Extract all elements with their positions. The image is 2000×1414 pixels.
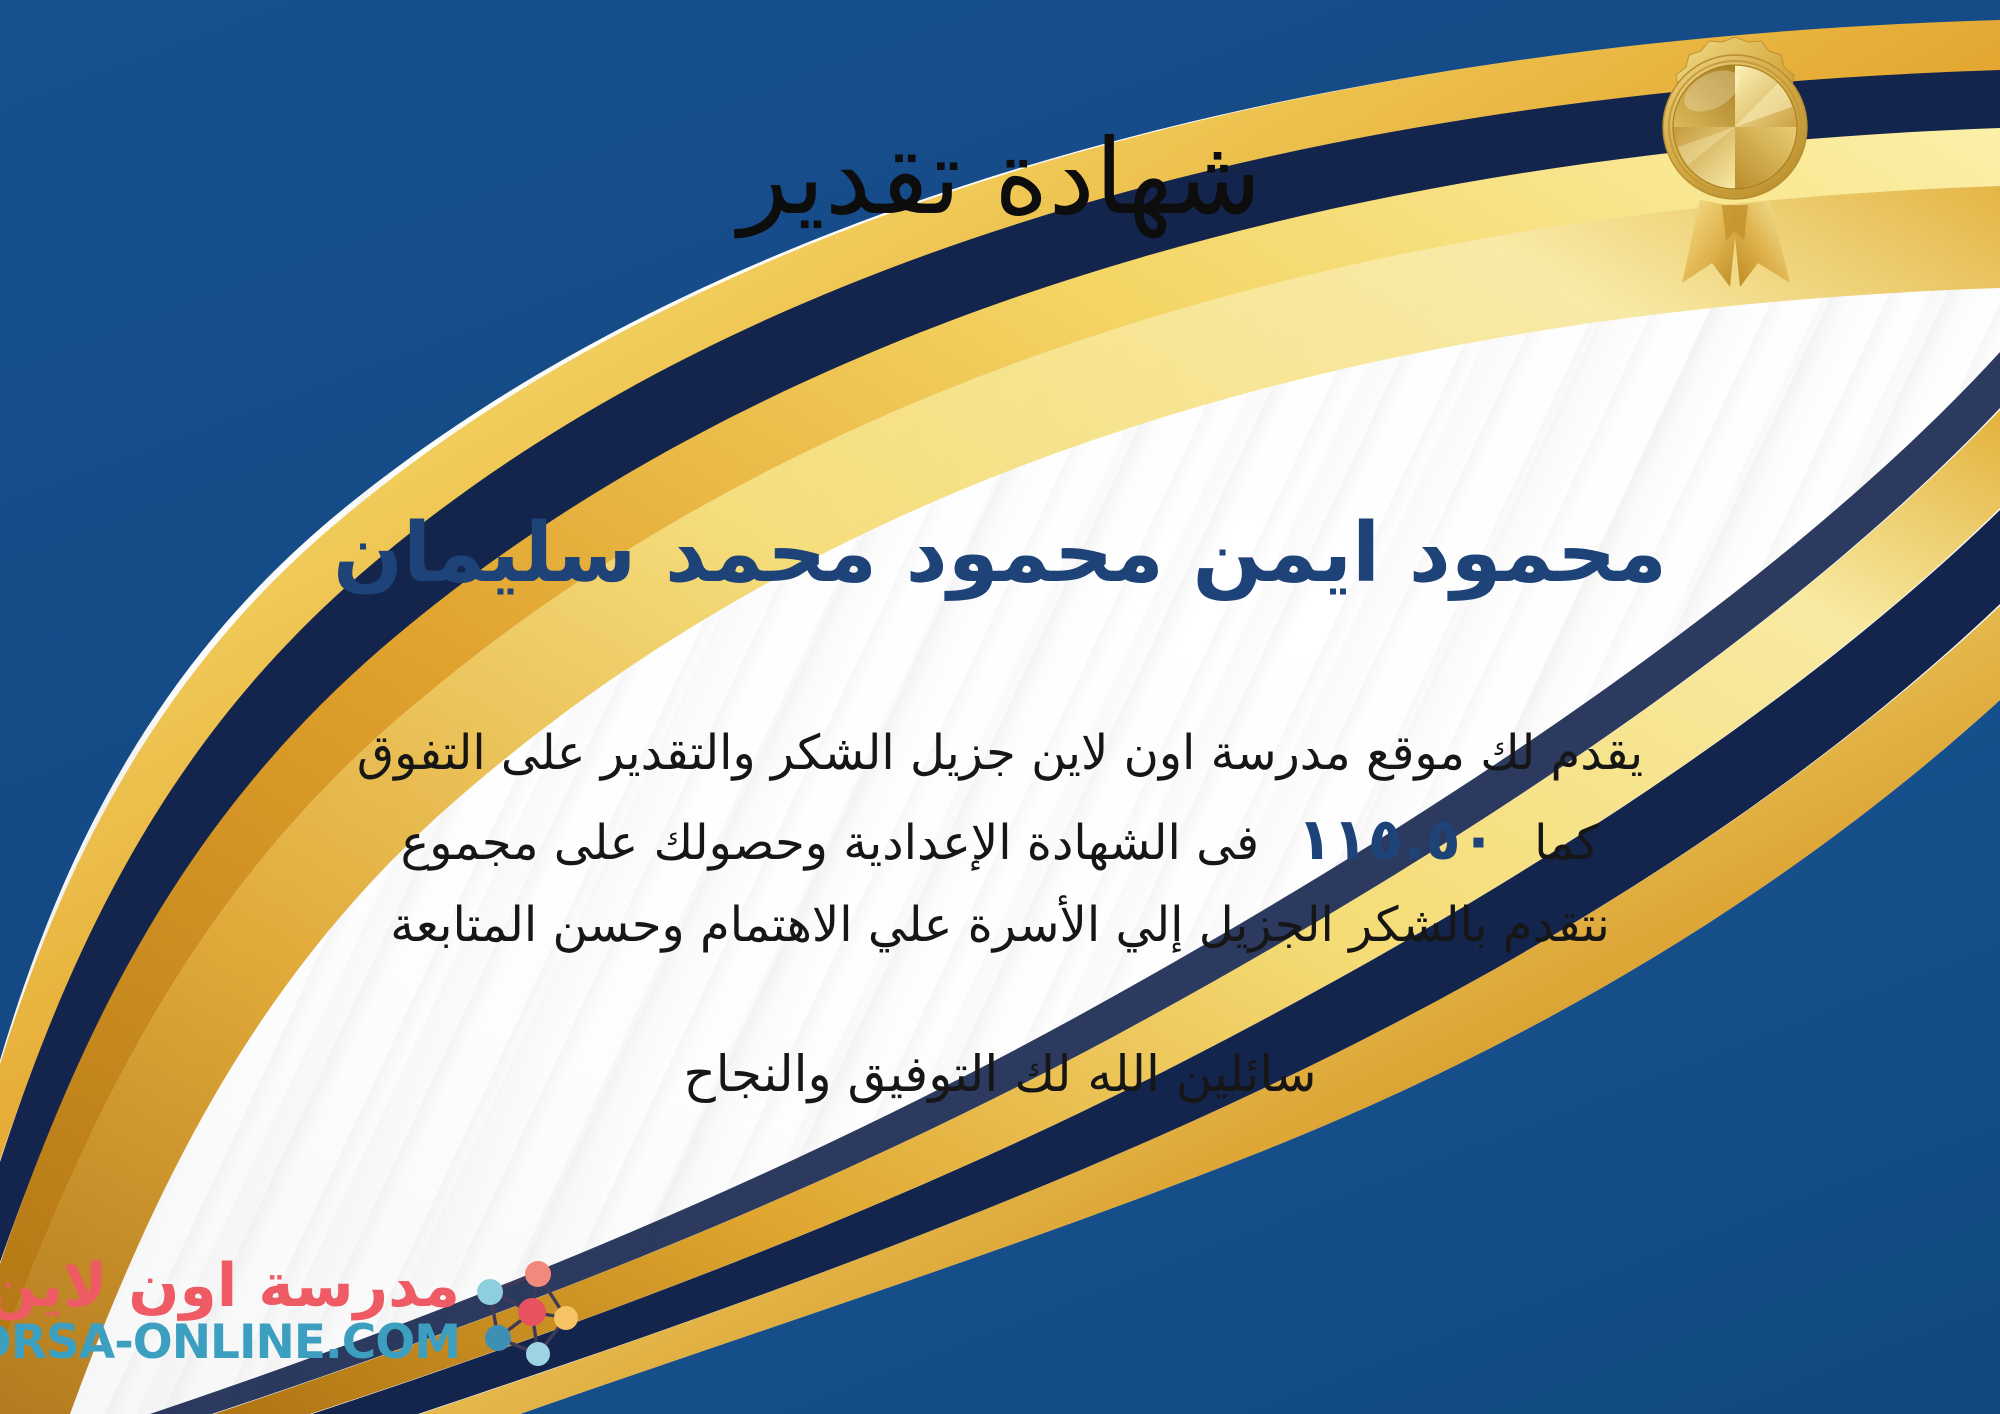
recipient-name: محمود ايمن محمود محمد سليمان [120, 505, 1880, 603]
network-nodes-icon [466, 1246, 584, 1376]
brand-text-block: مدرسة اون لاين MADRSA-ONLINE.COM [0, 1255, 466, 1367]
certificate-page: شهادة تقدير محمود ايمن محمود محمد سليمان… [0, 0, 2000, 1414]
brand-arabic-name: مدرسة اون لاين [0, 1255, 460, 1318]
closing-line: سائلين الله لك التوفيق والنجاح [120, 1045, 1880, 1103]
body-line-2: كما١١٥.٥٠فى الشهادة الإعدادية وحصولك على… [160, 793, 1840, 887]
body-line-1: يقدم لك موقع مدرسة اون لاين جزيل الشكر و… [160, 715, 1840, 793]
certificate-content: شهادة تقدير محمود ايمن محمود محمد سليمان… [120, 0, 1880, 1414]
body-line-3: نتقدم بالشكر الجزيل إلي الأسرة علي الاهت… [160, 887, 1840, 965]
total-score-value: ١١٥.٥٠ [1259, 805, 1534, 873]
brand-website[interactable]: MADRSA-ONLINE.COM [0, 1318, 460, 1367]
page-title: شهادة تقدير [120, 118, 1880, 238]
body-line-2-suffix: كما [1534, 815, 1599, 871]
brand-logo[interactable]: مدرسة اون لاين MADRSA-ONLINE.COM [24, 1236, 584, 1386]
body-line-2-prefix: فى الشهادة الإعدادية وحصولك على مجموع [401, 815, 1259, 871]
certificate-body: يقدم لك موقع مدرسة اون لاين جزيل الشكر و… [160, 715, 1840, 964]
